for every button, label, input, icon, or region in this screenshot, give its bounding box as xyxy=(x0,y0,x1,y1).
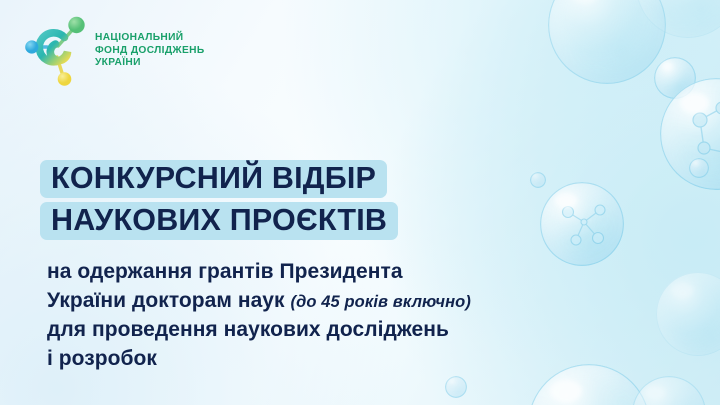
logo-line-1: НАЦІОНАЛЬНИЙ xyxy=(95,32,205,45)
bubble-decoration xyxy=(689,158,709,178)
headline-line-1: КОНКУРСНИЙ ВІДБІР xyxy=(40,160,387,198)
subtitle-line-2: України докторам наук (до 45 років включ… xyxy=(47,287,471,317)
subtitle-line-3: для проведення наукових досліджень xyxy=(47,316,471,345)
subtitle-line-1: на одержання грантів Президента xyxy=(47,258,471,287)
organization-name: НАЦІОНАЛЬНИЙ ФОНД ДОСЛІДЖЕНЬ УКРАЇНИ xyxy=(95,32,205,70)
bubble-decoration xyxy=(540,182,624,266)
subtitle-block: на одержання грантів Президента України … xyxy=(47,258,471,373)
subtitle-line-4: і розробок xyxy=(47,345,471,374)
logo-line-3: УКРАЇНИ xyxy=(95,57,205,70)
subtitle-line-2-main: України докторам наук xyxy=(47,289,285,312)
page-title: КОНКУРСНИЙ ВІДБІР НАУКОВИХ ПРОЄКТІВ xyxy=(40,160,398,244)
molecule-icon xyxy=(660,78,720,190)
headline-row-2: НАУКОВИХ ПРОЄКТІВ xyxy=(40,202,398,240)
bubble-decoration xyxy=(654,57,696,99)
bubble-decoration xyxy=(660,78,720,190)
molecule-icon xyxy=(540,182,624,266)
bubble-decoration xyxy=(548,0,666,84)
bubble-decoration xyxy=(636,0,720,38)
bubble-decoration xyxy=(528,364,650,405)
nrfu-molecule-logo-icon xyxy=(24,14,86,88)
bubble-decoration xyxy=(530,172,546,188)
poster-canvas: НАЦІОНАЛЬНИЙ ФОНД ДОСЛІДЖЕНЬ УКРАЇНИ КОН… xyxy=(0,0,720,405)
bubble-decoration xyxy=(445,376,467,398)
organization-logo: НАЦІОНАЛЬНИЙ ФОНД ДОСЛІДЖЕНЬ УКРАЇНИ xyxy=(24,14,205,88)
headline-line-2: НАУКОВИХ ПРОЄКТІВ xyxy=(40,202,398,240)
logo-line-2: ФОНД ДОСЛІДЖЕНЬ xyxy=(95,45,205,58)
bubble-decoration xyxy=(656,272,720,356)
subtitle-age-note: (до 45 років включно) xyxy=(291,293,471,311)
bubble-decoration xyxy=(632,376,706,405)
headline-row-1: КОНКУРСНИЙ ВІДБІР xyxy=(40,160,398,198)
